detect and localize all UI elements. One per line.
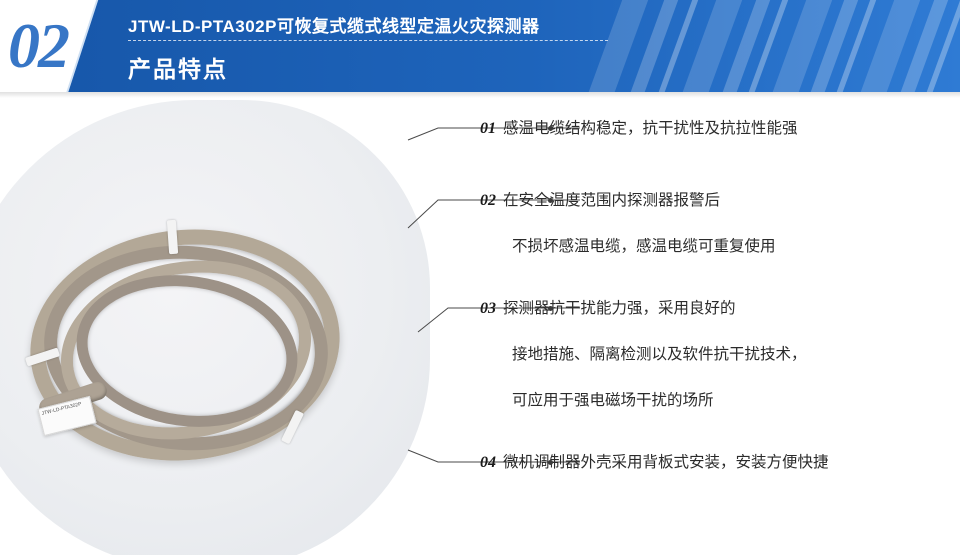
bullet-dot xyxy=(548,198,553,203)
product-model-title: JTW-LD-PTA302P可恢复式缆式线型定温火灾探测器 xyxy=(128,12,539,37)
feature-02-text-2: 不损坏感温电缆，感温电缆可重复使用 xyxy=(480,235,776,259)
feature-item-03: 03探测器抗干扰能力强，采用良好的 接地措施、隔离检测以及软件抗干扰技术， 可应… xyxy=(480,297,807,413)
bullet-dot xyxy=(548,306,553,311)
feature-02-text-1: 在安全温度范围内探测器报警后 xyxy=(503,192,720,209)
feature-01-line-1: 01感温电缆结构稳定，抗干扰性及抗拉性能强 xyxy=(480,117,798,141)
header-stripe-decoration xyxy=(540,0,960,92)
cable-tie xyxy=(167,220,178,255)
product-photo: JTW-LD-PTA302P xyxy=(0,100,440,555)
feature-index-01: 01 xyxy=(480,120,496,137)
header-band: 02 JTW-LD-PTA302P可恢复式缆式线型定温火灾探测器 产品特点 xyxy=(0,0,960,92)
section-subtitle: 产品特点 xyxy=(128,50,228,84)
feature-index-03: 03 xyxy=(480,300,496,317)
feature-03-text-3: 可应用于强电磁场干扰的场所 xyxy=(480,389,807,413)
feature-03-text-2: 接地措施、隔离检测以及软件抗干扰技术， xyxy=(480,343,807,367)
heat-sensing-cable-coil: JTW-LD-PTA302P xyxy=(30,220,360,470)
feature-item-04: 04微机调制器外壳采用背板式安装，安装方便快捷 xyxy=(480,451,829,475)
feature-item-01: 01感温电缆结构稳定，抗干扰性及抗拉性能强 xyxy=(480,117,798,141)
feature-list: 01感温电缆结构稳定，抗干扰性及抗拉性能强 02在安全温度范围内探测器报警后 不… xyxy=(400,100,960,555)
feature-index-02: 02 xyxy=(480,192,496,209)
feature-03-text-1: 探测器抗干扰能力强，采用良好的 xyxy=(503,300,736,317)
feature-item-02: 02在安全温度范围内探测器报警后 不损坏感温电缆，感温电缆可重复使用 xyxy=(480,189,776,259)
feature-03-line-1: 03探测器抗干扰能力强，采用良好的 xyxy=(480,297,807,321)
header-shadow xyxy=(0,92,960,98)
feature-index-04: 04 xyxy=(480,454,496,471)
feature-04-line-1: 04微机调制器外壳采用背板式安装，安装方便快捷 xyxy=(480,451,829,475)
section-number: 02 xyxy=(8,14,68,78)
feature-02-line-1: 02在安全温度范围内探测器报警后 xyxy=(480,189,776,213)
bullet-dot xyxy=(548,460,553,465)
slide-page: 02 JTW-LD-PTA302P可恢复式缆式线型定温火灾探测器 产品特点 JT… xyxy=(0,0,960,555)
bullet-dot xyxy=(548,126,553,131)
header-divider xyxy=(128,40,608,41)
